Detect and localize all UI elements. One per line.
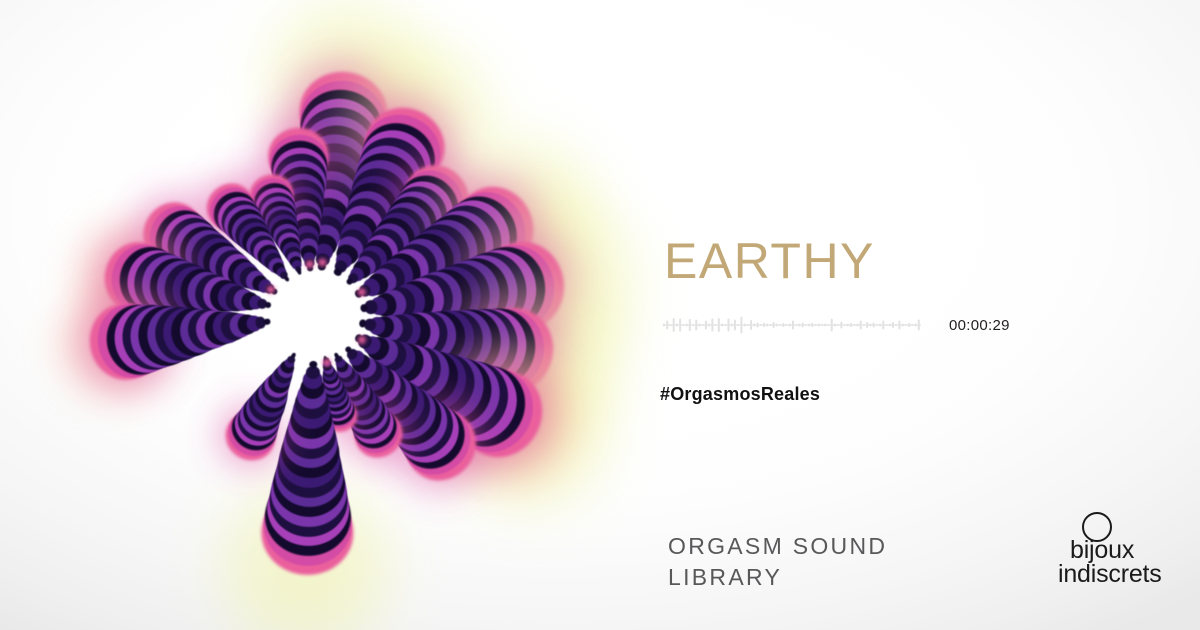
audio-player-row[interactable]: 00:00:29 bbox=[663, 312, 1010, 338]
campaign-hashtag[interactable]: #OrgasmosReales bbox=[660, 384, 820, 405]
poster-canvas: EARTHY 00:00:29 #OrgasmosReales ORGASM S… bbox=[0, 0, 1200, 630]
radial-sound-bloom-artwork bbox=[110, 110, 520, 520]
track-duration: 00:00:29 bbox=[949, 317, 1010, 334]
brand-logo[interactable]: bijoux indiscrets bbox=[1058, 512, 1180, 600]
library-name: ORGASM SOUND LIBRARY bbox=[668, 531, 887, 593]
audio-waveform[interactable] bbox=[663, 312, 921, 338]
track-title: EARTHY bbox=[664, 236, 875, 286]
brand-name-line-2: indiscrets bbox=[1058, 562, 1162, 587]
